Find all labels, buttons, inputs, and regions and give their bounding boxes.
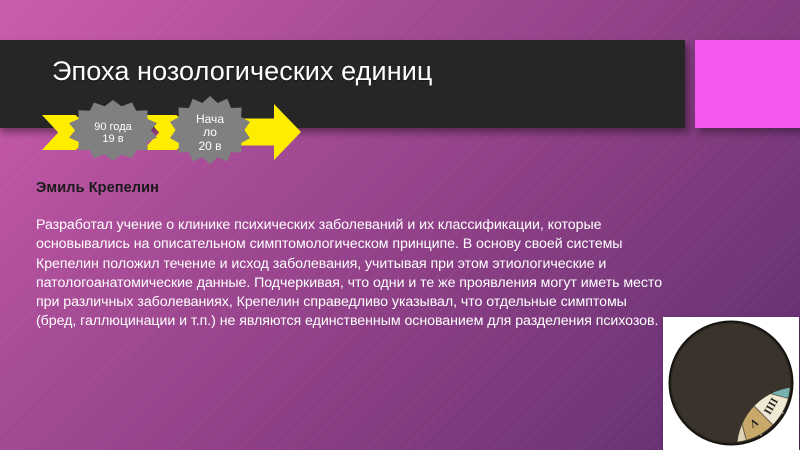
page-title: Эпоха нозологических единиц — [52, 56, 432, 87]
milestone-1-line2: 19 в — [102, 133, 123, 145]
accent-rectangle — [695, 40, 800, 128]
milestone-1-line1: 90 года — [94, 121, 131, 133]
clock-image: XII I II III IIII V VI VII VIII IX X XI … — [663, 317, 799, 450]
milestone-2-line3: 20 в — [198, 139, 221, 153]
milestone-2-line1: Нача — [196, 112, 224, 126]
timeline-arrow-head-icon — [241, 104, 301, 160]
timeline-graphic: 90 года 19 в Нача ло 20 в — [38, 96, 298, 168]
body-paragraph: Разработал учение о клинике психических … — [36, 216, 664, 332]
clock-face-icon: XII I II III IIII V VI VII VIII IX X XI … — [663, 317, 799, 450]
body-heading: Эмиль Крепелин — [36, 180, 159, 196]
milestone-2-line2: ло — [203, 125, 217, 139]
slide-canvas: Эпоха нозологических единиц 90 года 19 в… — [0, 0, 800, 450]
timeline-milestone-1: 90 года 19 в — [69, 100, 157, 166]
timeline-milestone-2: Нача ло 20 в — [170, 96, 250, 170]
